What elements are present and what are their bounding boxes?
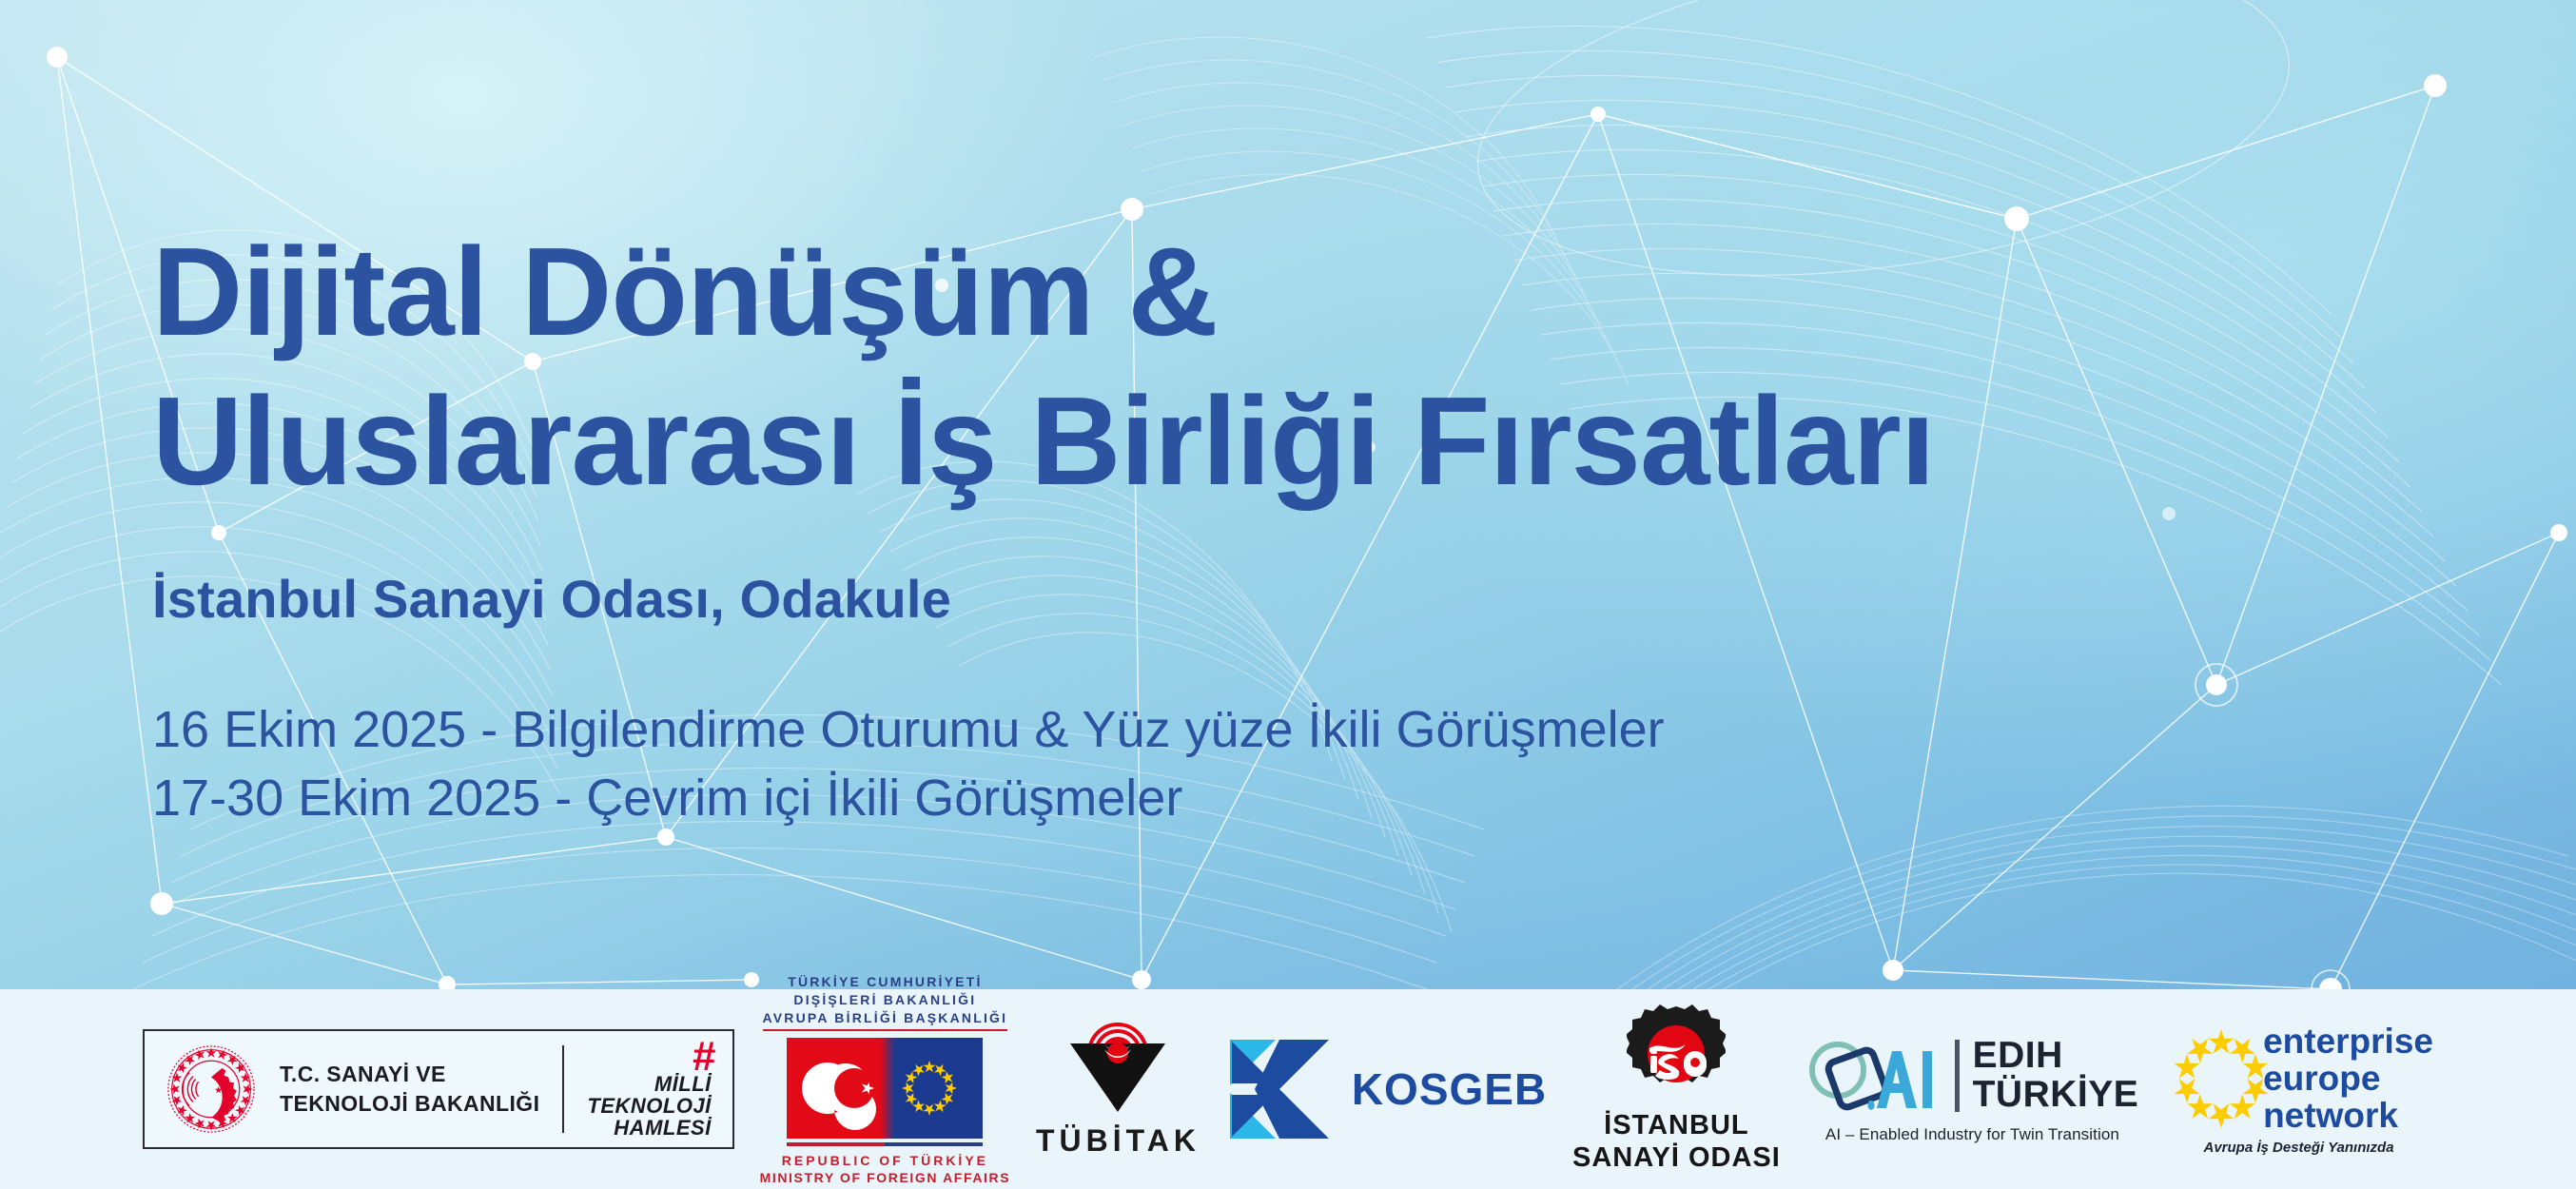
- logo-enterprise-europe-network: enterprise europe network Avrupa İş Dest…: [2164, 1023, 2433, 1157]
- sponsor-logo-bar: T.C. SANAYİ VE TEKNOLOJİ BAKANLIĞI # MİL…: [0, 989, 2576, 1189]
- logo-kosgeb: KOSGEB: [1226, 1036, 1547, 1142]
- milli-line1: MİLLİ: [587, 1073, 711, 1095]
- ministry-name-line1: T.C. SANAYİ VE: [280, 1060, 539, 1089]
- edih-divider: [1955, 1040, 1960, 1112]
- een-line1: enterprise: [2263, 1023, 2433, 1060]
- page-title-line1: Dijital Dönüşüm &: [152, 228, 2340, 357]
- iso-line2: SANAYİ ODASI: [1572, 1141, 1781, 1174]
- mfa-en-line1: REPUBLIC OF TÜRKİYE: [760, 1152, 1011, 1170]
- event-dates: 16 Ekim 2025 - Bilgilendirme Oturumu & Y…: [152, 696, 2340, 832]
- logo-tubitak: TÜBİTAK: [1036, 1021, 1200, 1159]
- page-title-line2: Uluslararası İş Birliği Fırsatları: [152, 378, 2340, 506]
- mfa-tr-line3: AVRUPA BİRLİĞİ BAŞKANLIĞI: [763, 1009, 1008, 1031]
- mfa-turkish-name: TÜRKİYE CUMHURİYETİ DIŞİŞLERİ BAKANLIĞI …: [763, 973, 1008, 1031]
- een-line3: network: [2263, 1097, 2433, 1134]
- edih-line1: EDIH: [1973, 1037, 2139, 1076]
- hashtag-icon: #: [692, 1040, 711, 1073]
- event-banner: Dijital Dönüşüm & Uluslararası İş Birliğ…: [0, 0, 2576, 1189]
- tubitak-label: TÜBİTAK: [1036, 1123, 1200, 1159]
- tubitak-mark-icon: [1057, 1021, 1179, 1116]
- milli-line3: HAMLESİ: [587, 1117, 711, 1139]
- logo-ministry-industry-technology: T.C. SANAYİ VE TEKNOLOJİ BAKANLIĞI # MİL…: [143, 1029, 734, 1149]
- banner-content: Dijital Dönüşüm & Uluslararası İş Birliğ…: [152, 228, 2340, 832]
- kosgeb-mark-icon: [1226, 1036, 1333, 1142]
- milli-text: MİLLİ TEKNOLOJİ HAMLESİ: [587, 1073, 711, 1139]
- milli-teknoloji-hamlesi-logo: # MİLLİ TEKNOLOJİ HAMLESİ: [587, 1040, 711, 1139]
- een-tagline: Avrupa İş Desteği Yanınızda: [2204, 1140, 2394, 1156]
- kosgeb-label: KOSGEB: [1352, 1063, 1547, 1115]
- een-line2: europe: [2263, 1060, 2433, 1097]
- date-line-2: 17-30 Ekim 2025 - Çevrim içi İkili Görüş…: [152, 765, 2340, 832]
- venue-text: İstanbul Sanayi Odası, Odakule: [152, 568, 2340, 630]
- een-label: enterprise europe network: [2263, 1023, 2433, 1135]
- edih-row: EDIH TÜRKİYE: [1806, 1034, 2139, 1118]
- edih-label: EDIH TÜRKİYE: [1973, 1037, 2139, 1115]
- logo-istanbul-sanayi-odasi: İSTANBUL SANAYİ ODASI: [1572, 1004, 1781, 1174]
- turkish-state-emblem-icon: [166, 1043, 257, 1135]
- logo-divider: [562, 1045, 564, 1133]
- iso-label: İSTANBUL SANAYİ ODASI: [1572, 1109, 1781, 1174]
- ministry-name-line2: TEKNOLOJİ BAKANLIĞI: [280, 1089, 539, 1119]
- mfa-tr-line2: DIŞİŞLERİ BAKANLIĞI: [763, 991, 1008, 1009]
- logo-ministry-foreign-affairs-eu: TÜRKİYE CUMHURİYETİ DIŞİŞLERİ BAKANLIĞI …: [760, 973, 1011, 1189]
- een-row: enterprise europe network: [2164, 1023, 2433, 1135]
- iso-gear-icon: [1627, 1004, 1726, 1103]
- mfa-en-line2: MINISTRY OF FOREIGN AFFAIRS: [760, 1169, 1011, 1187]
- logo-edih-turkiye: EDIH TÜRKİYE AI – Enabled Industry for T…: [1806, 1034, 2139, 1144]
- ministry-name: T.C. SANAYİ VE TEKNOLOJİ BAKANLIĞI: [280, 1060, 539, 1119]
- edih-ai-mark-icon: [1806, 1034, 1949, 1118]
- edih-line2: TÜRKİYE: [1973, 1076, 2139, 1115]
- turkey-eu-flag-icon: [787, 1038, 983, 1139]
- iso-line1: İSTANBUL: [1572, 1109, 1781, 1141]
- mfa-english-name: REPUBLIC OF TÜRKİYE MINISTRY OF FOREIGN …: [760, 1152, 1011, 1189]
- eu-stars-icon: [2164, 1023, 2278, 1134]
- milli-line2: TEKNOLOJİ: [587, 1095, 711, 1117]
- mfa-tr-line1: TÜRKİYE CUMHURİYETİ: [763, 973, 1008, 991]
- date-line-1: 16 Ekim 2025 - Bilgilendirme Oturumu & Y…: [152, 696, 2340, 764]
- flag-underline: [787, 1142, 983, 1146]
- edih-tagline: AI – Enabled Industry for Twin Transitio…: [1825, 1125, 2119, 1144]
